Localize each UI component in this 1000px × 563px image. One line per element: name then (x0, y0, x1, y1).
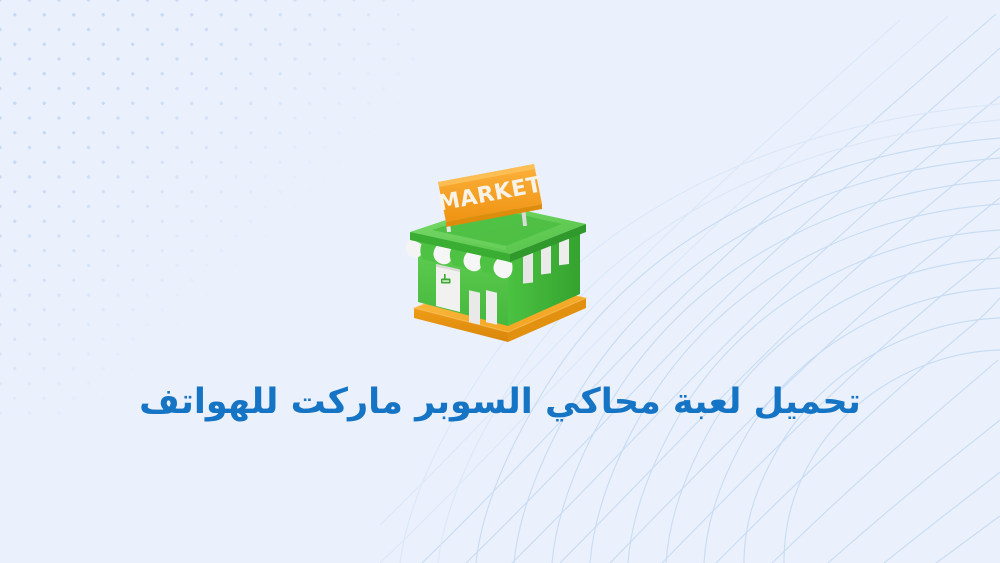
banner-canvas: MARKET تحميل لعبة محاكي السوبر ماركت لله… (0, 0, 1000, 563)
market-store-illustration: MARKET (390, 160, 605, 345)
page-title: تحميل لعبة محاكي السوبر ماركت للهواتف (0, 379, 1000, 425)
store-door (436, 264, 460, 312)
dot-grid-pattern (0, 0, 420, 420)
